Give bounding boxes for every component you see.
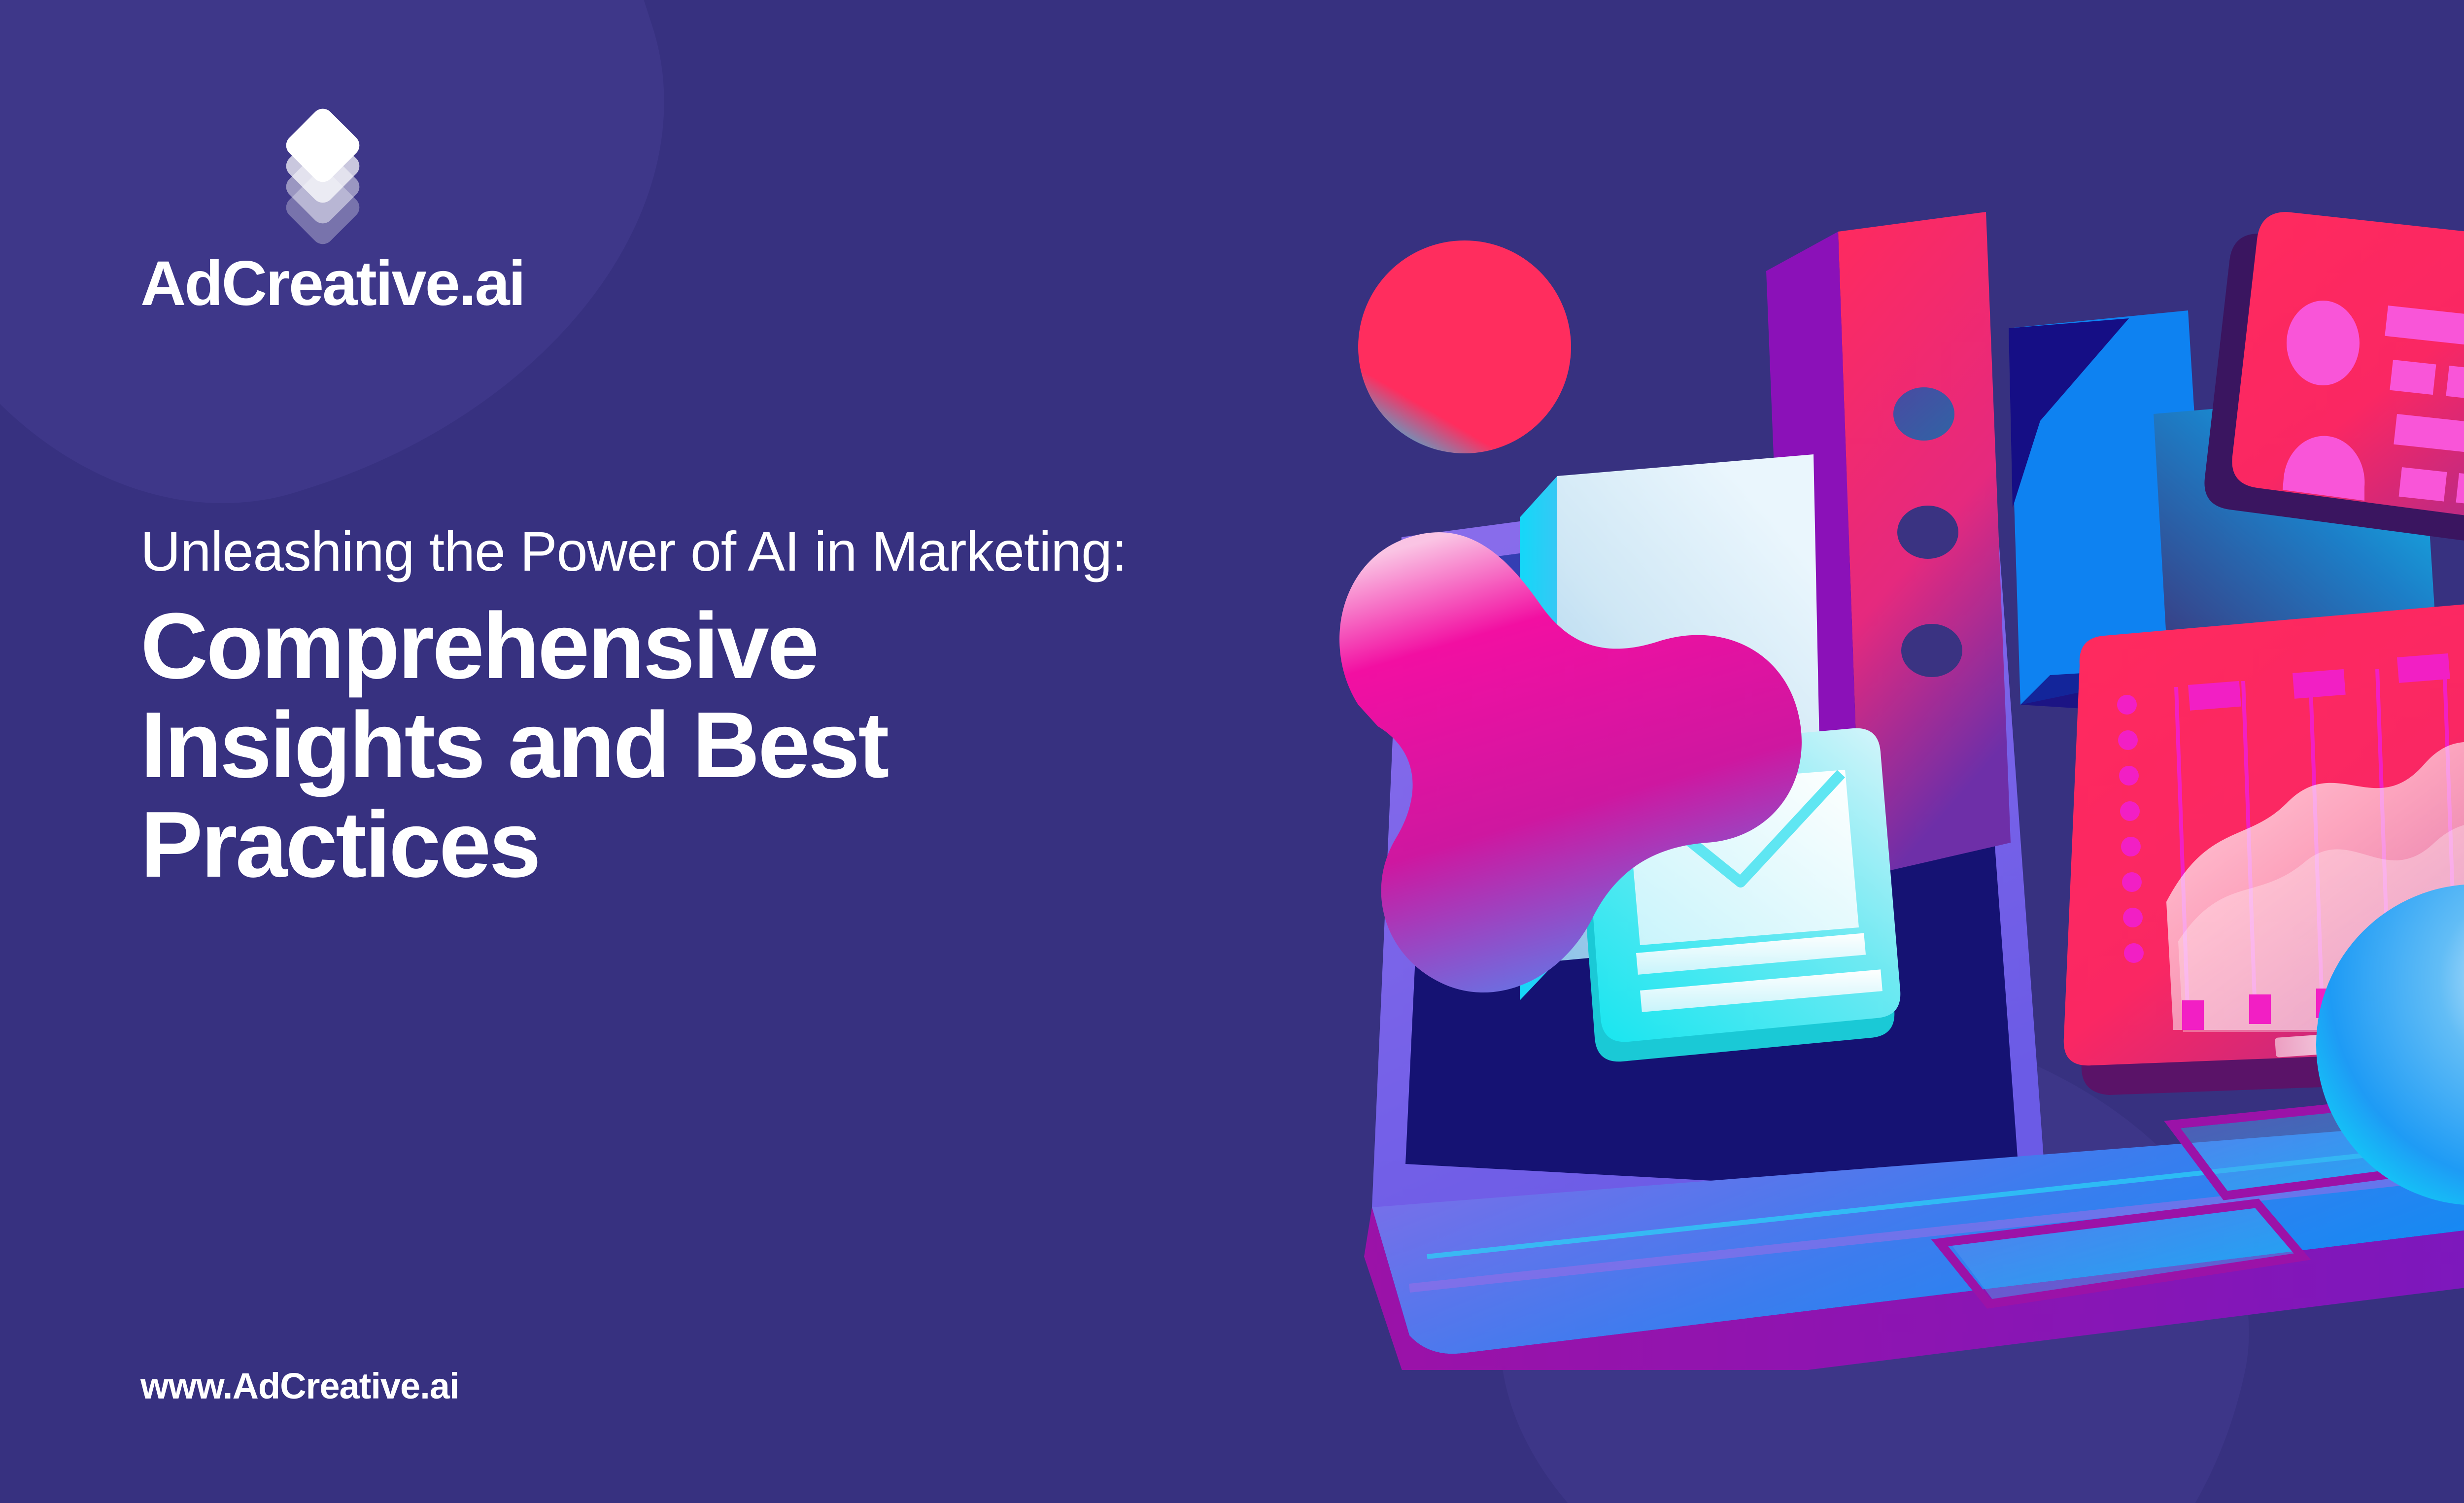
brand-name: AdCreative.ai [140, 252, 545, 315]
pink-sphere [1358, 240, 1571, 453]
headline-block: Unleashing the Power of AI in Marketing:… [140, 520, 1274, 894]
contact-card [2204, 212, 2464, 547]
page-title: Comprehensive Insights and Best Practice… [140, 597, 1274, 894]
stacked-layers-icon [266, 113, 379, 241]
headline-line-2: Insights and Best [140, 696, 1274, 795]
content-column: AdCreative.ai Unleashing the Power of AI… [140, 0, 1323, 1503]
headline-line-3: Practices [140, 795, 1274, 894]
banner-canvas: AdCreative.ai Unleashing the Power of AI… [0, 0, 2464, 1503]
brand-logo[interactable]: AdCreative.ai [140, 113, 545, 315]
headline-line-1: Comprehensive [140, 597, 1274, 696]
website-url[interactable]: www.AdCreative.ai [140, 1365, 459, 1407]
eyebrow-text: Unleashing the Power of AI in Marketing: [140, 520, 1274, 584]
ai-marketing-laptop-illustration [1262, 212, 2464, 1370]
